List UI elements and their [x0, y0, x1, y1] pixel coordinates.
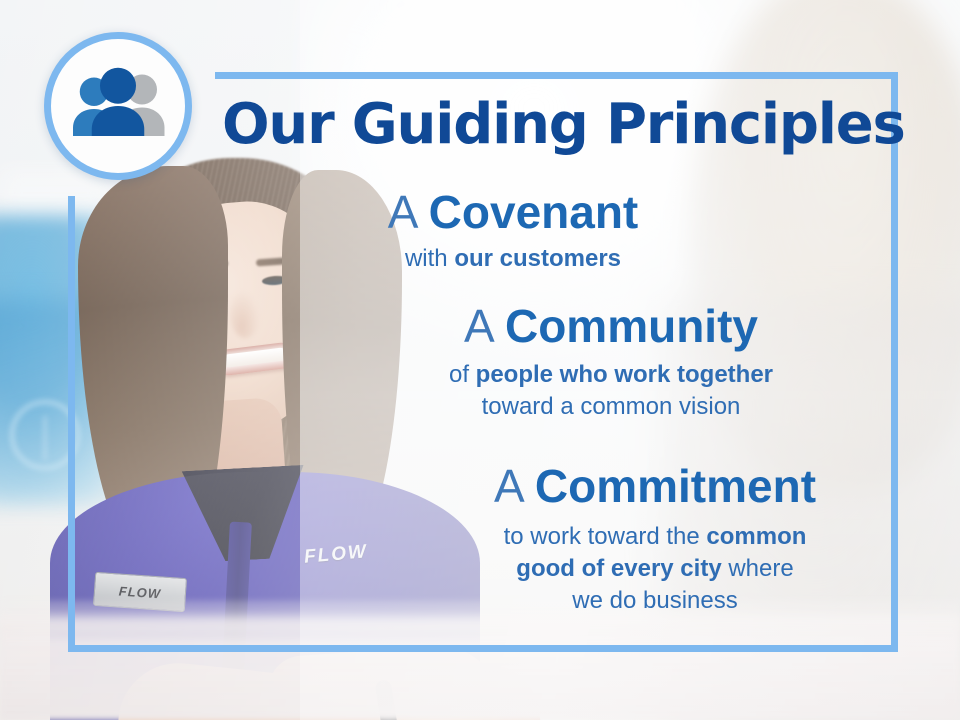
principle-covenant-sub: with our customers — [348, 243, 678, 275]
covenant-sub-lead: with — [405, 245, 454, 272]
page-title: Our Guiding Principles — [222, 96, 905, 154]
commitment-sub-tail: where — [722, 555, 794, 582]
people-group-badge — [44, 32, 192, 180]
community-sub-line-1: of people who work together — [392, 359, 830, 391]
principle-covenant-keyword: Covenant — [429, 186, 639, 238]
people-group-icon — [67, 67, 169, 145]
principle-commitment: A Commitment to work toward the common g… — [440, 462, 870, 617]
community-sub-lead: of — [449, 361, 476, 388]
frame-top-line — [215, 72, 898, 79]
commitment-sub-line-1: to work toward the common — [440, 521, 870, 553]
principle-community-headline: A Community — [392, 302, 830, 351]
principle-commitment-article: A — [494, 460, 535, 512]
commitment-sub-line-3: we do business — [440, 585, 870, 617]
frame-bottom-line — [68, 645, 898, 652]
principle-covenant-headline: A Covenant — [348, 188, 678, 237]
banner-graphic: FLOW FLOW Our Guiding Pr — [0, 0, 960, 720]
nose — [230, 290, 260, 338]
principle-covenant-article: A — [388, 186, 429, 238]
principle-community-article: A — [464, 300, 505, 352]
commitment-sub-line-2: good of every city where — [440, 553, 870, 585]
principle-covenant: A Covenant with our customers — [348, 188, 678, 275]
principle-community-sub: of people who work together toward a com… — [392, 359, 830, 423]
covenant-sub-bold: our customers — [454, 245, 621, 272]
principle-commitment-headline: A Commitment — [440, 462, 870, 511]
community-sub-bold: people who work together — [476, 361, 773, 388]
principle-commitment-keyword: Commitment — [535, 460, 816, 512]
commitment-sub-lead: to work toward the — [504, 523, 707, 550]
name-badge-text: FLOW — [118, 584, 161, 600]
frame-right-line — [891, 72, 898, 652]
community-sub-line-2: toward a common vision — [392, 391, 830, 423]
commitment-sub-bold-2: good of every city — [516, 555, 721, 582]
table-surface — [0, 600, 960, 720]
principle-community-keyword: Community — [505, 300, 758, 352]
principle-commitment-sub: to work toward the common good of every … — [440, 521, 870, 617]
frame-left-line — [68, 196, 75, 652]
principle-community: A Community of people who work together … — [392, 302, 830, 423]
commitment-sub-bold-1: common — [706, 523, 806, 550]
